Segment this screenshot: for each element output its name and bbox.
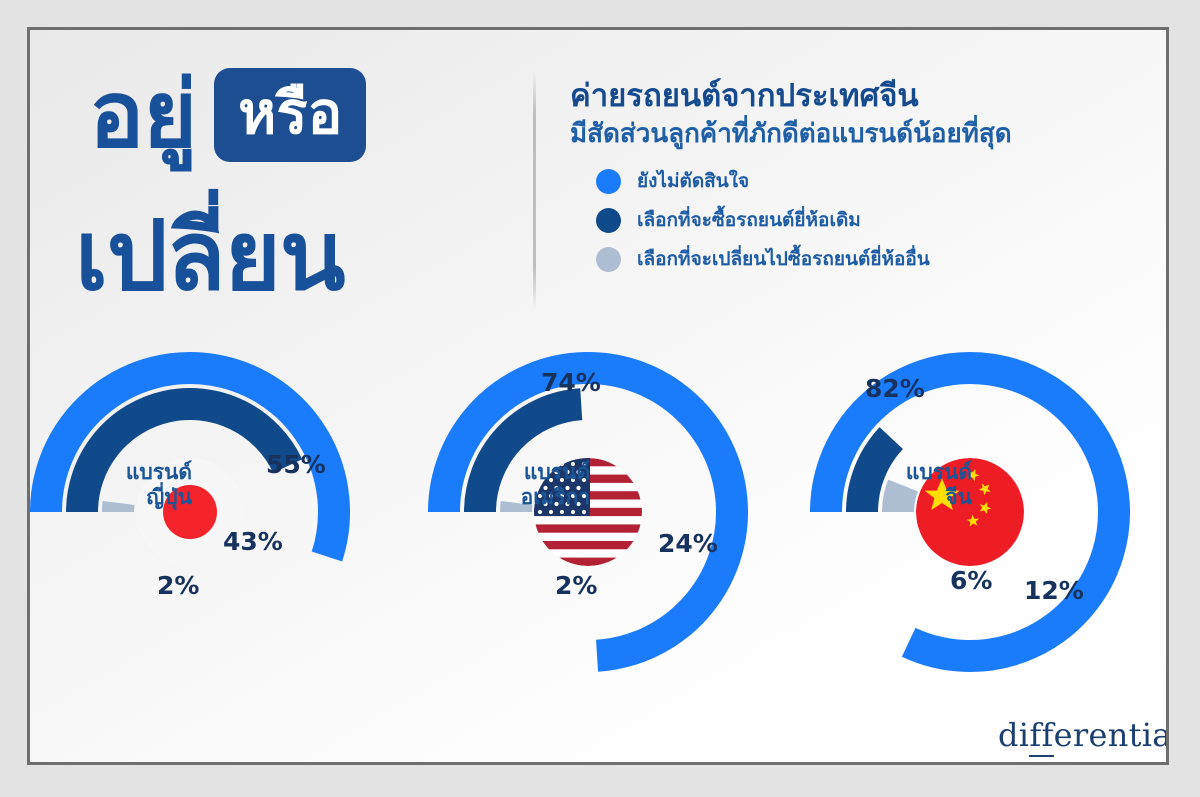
pct-label-undecided: 74%: [541, 368, 601, 397]
logo-part-2-underlined: ff: [1029, 716, 1053, 757]
legend-item-switch-brand: เลือกที่จะเปลี่ยนไปซื้อรถยนต์ยี่ห้ออื่น: [596, 244, 1130, 274]
pct-label-undecided: 82%: [865, 374, 925, 403]
legend-label: เลือกที่จะเปลี่ยนไปซื้อรถยนต์ยี่ห้ออื่น: [637, 244, 930, 274]
legend-label: เลือกที่จะซื้อรถยนต์ยี่ห้อเดิม: [637, 205, 861, 235]
brand-label-line-1: แบรนด์: [72, 460, 192, 485]
logo-part-3: erential: [1054, 716, 1169, 754]
legend-dot-icon: [596, 247, 621, 272]
headline-line-1: ค่ายรถยนต์จากประเทศจีน: [570, 78, 1130, 115]
brand-label-china: แบรนด์ จีน: [828, 460, 972, 510]
title-line-1: อยู่ หรือ: [89, 68, 366, 162]
headline-block: ค่ายรถยนต์จากประเทศจีน มีสัดส่วนลูกค้าที…: [570, 78, 1130, 283]
legend-dot-icon: [596, 169, 621, 194]
legend-item-undecided: ยังไม่ตัดสินใจ: [596, 166, 1130, 196]
title-word-change: เปลี่ยน: [75, 208, 344, 304]
pct-label-switch: 6%: [950, 566, 992, 595]
pct-label-switch: 2%: [157, 571, 199, 600]
donut-chart-china: แบรนด์ จีน 82% 12% 6%: [810, 352, 1130, 672]
infographic-canvas: อยู่ หรือ เปลี่ยน ค่ายรถยนต์จากประเทศจีน…: [0, 0, 1200, 797]
infographic-card: อยู่ หรือ เปลี่ยน ค่ายรถยนต์จากประเทศจีน…: [27, 27, 1169, 765]
legend-item-stay-same-brand: เลือกที่จะซื้อรถยนต์ยี่ห้อเดิม: [596, 205, 1130, 235]
title-word-stay: อยู่: [89, 69, 196, 161]
title-block: อยู่ หรือ เปลี่ยน: [75, 68, 535, 358]
pct-label-stay: 43%: [223, 527, 283, 556]
brand-label-line-2: จีน: [828, 485, 972, 510]
legend: ยังไม่ตัดสินใจ เลือกที่จะซื้อรถยนต์ยี่ห้…: [596, 166, 1130, 274]
differential-logo: differential: [998, 716, 1169, 754]
brand-label-line-2: ญี่ปุ่น: [72, 485, 192, 510]
headline-line-2: มีสัดส่วนลูกค้าที่ภักดีต่อแบรนด์น้อยที่ส…: [570, 119, 1130, 151]
legend-label: ยังไม่ตัดสินใจ: [637, 166, 749, 196]
pct-label-stay: 24%: [658, 529, 718, 558]
logo-part-1: di: [998, 716, 1029, 754]
title-badge-or: หรือ: [214, 68, 366, 162]
pct-label-stay: 12%: [1024, 576, 1084, 605]
brand-label-japan: แบรนด์ ญี่ปุ่น: [72, 460, 192, 510]
vertical-divider: [533, 72, 536, 310]
legend-dot-icon: [596, 208, 621, 233]
brand-label-line-1: แบรนด์: [446, 460, 590, 485]
donut-chart-japan: แบรนด์ ญี่ปุ่น 55% 43% 2%: [30, 352, 350, 672]
brand-label-usa: แบรนด์ อเมริกา: [446, 460, 590, 510]
brand-label-line-1: แบรนด์: [828, 460, 972, 485]
pct-label-switch: 2%: [555, 571, 597, 600]
pct-label-undecided: 55%: [266, 450, 326, 479]
donut-chart-usa: แบรนด์ อเมริกา 74% 24% 2%: [428, 352, 748, 672]
brand-label-line-2: อเมริกา: [446, 485, 590, 510]
